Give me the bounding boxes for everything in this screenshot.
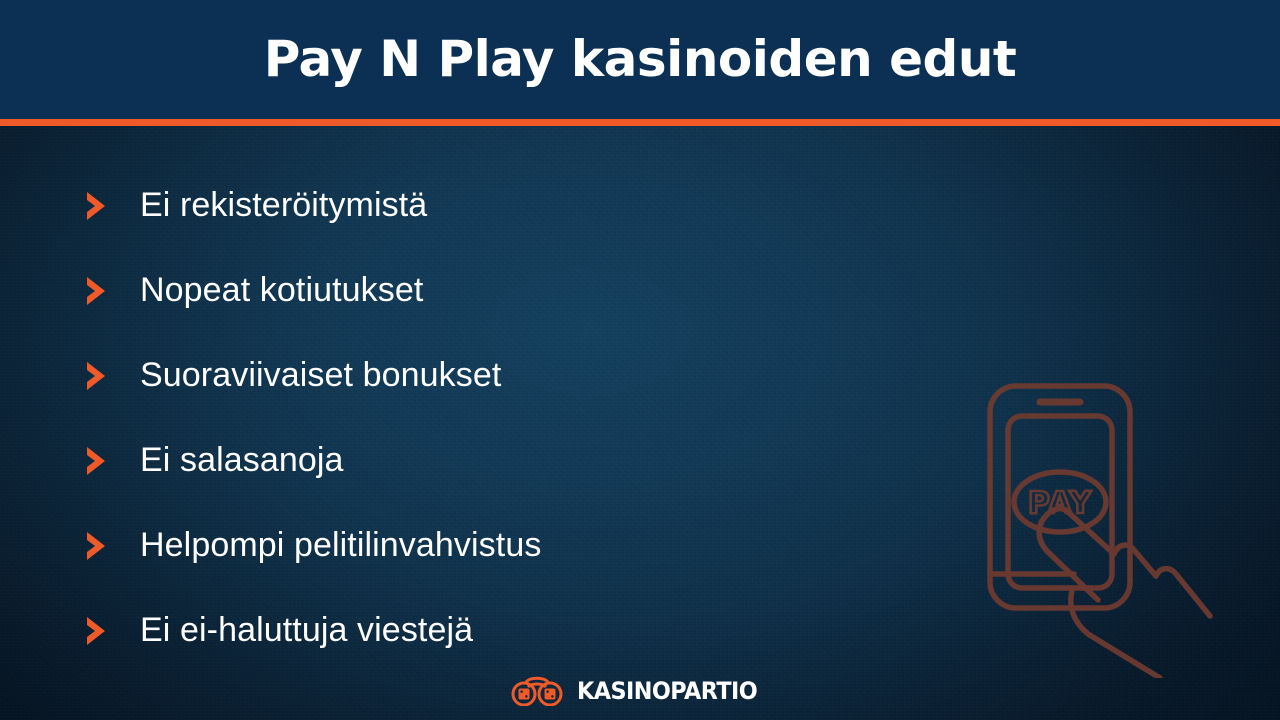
list-item: Ei ei-haluttuja viestejä [84, 588, 904, 673]
list-item: Ei salasanoja [84, 418, 904, 503]
chevron-right-icon [84, 190, 110, 222]
page-title: Pay N Play kasinoiden edut [264, 34, 1017, 86]
slide-root: Pay N Play kasinoiden edut Ei rekisteröi… [0, 0, 1280, 720]
brand-name: KASINOPARTIO [577, 679, 757, 703]
list-item-label: Ei ei-haluttuja viestejä [140, 613, 473, 649]
list-item: Helpompi pelitilinvahvistus [84, 503, 904, 588]
smartphone-pay-tap-icon: PAY [978, 378, 1238, 678]
pay-button-label: PAY [1028, 486, 1093, 521]
header-bar: Pay N Play kasinoiden edut [0, 0, 1280, 119]
brand-logo: KASINOPARTIO [0, 674, 1280, 708]
list-item-label: Ei rekisteröitymistä [140, 188, 427, 224]
chevron-right-icon [84, 360, 110, 392]
list-item-label: Nopeat kotiutukset [140, 273, 423, 309]
benefits-list: Ei rekisteröitymistä Nopeat kotiutukset … [84, 163, 904, 673]
chevron-right-icon [84, 530, 110, 562]
list-item-label: Helpompi pelitilinvahvistus [140, 528, 541, 564]
chevron-right-icon [84, 615, 110, 647]
list-item-label: Suoraviivaiset bonukset [140, 358, 501, 394]
list-item-label: Ei salasanoja [140, 443, 344, 479]
accent-divider [0, 119, 1280, 126]
binoculars-icon [509, 676, 565, 706]
chevron-right-icon [84, 275, 110, 307]
list-item: Suoraviivaiset bonukset [84, 333, 904, 418]
list-item: Nopeat kotiutukset [84, 248, 904, 333]
list-item: Ei rekisteröitymistä [84, 163, 904, 248]
chevron-right-icon [84, 445, 110, 477]
